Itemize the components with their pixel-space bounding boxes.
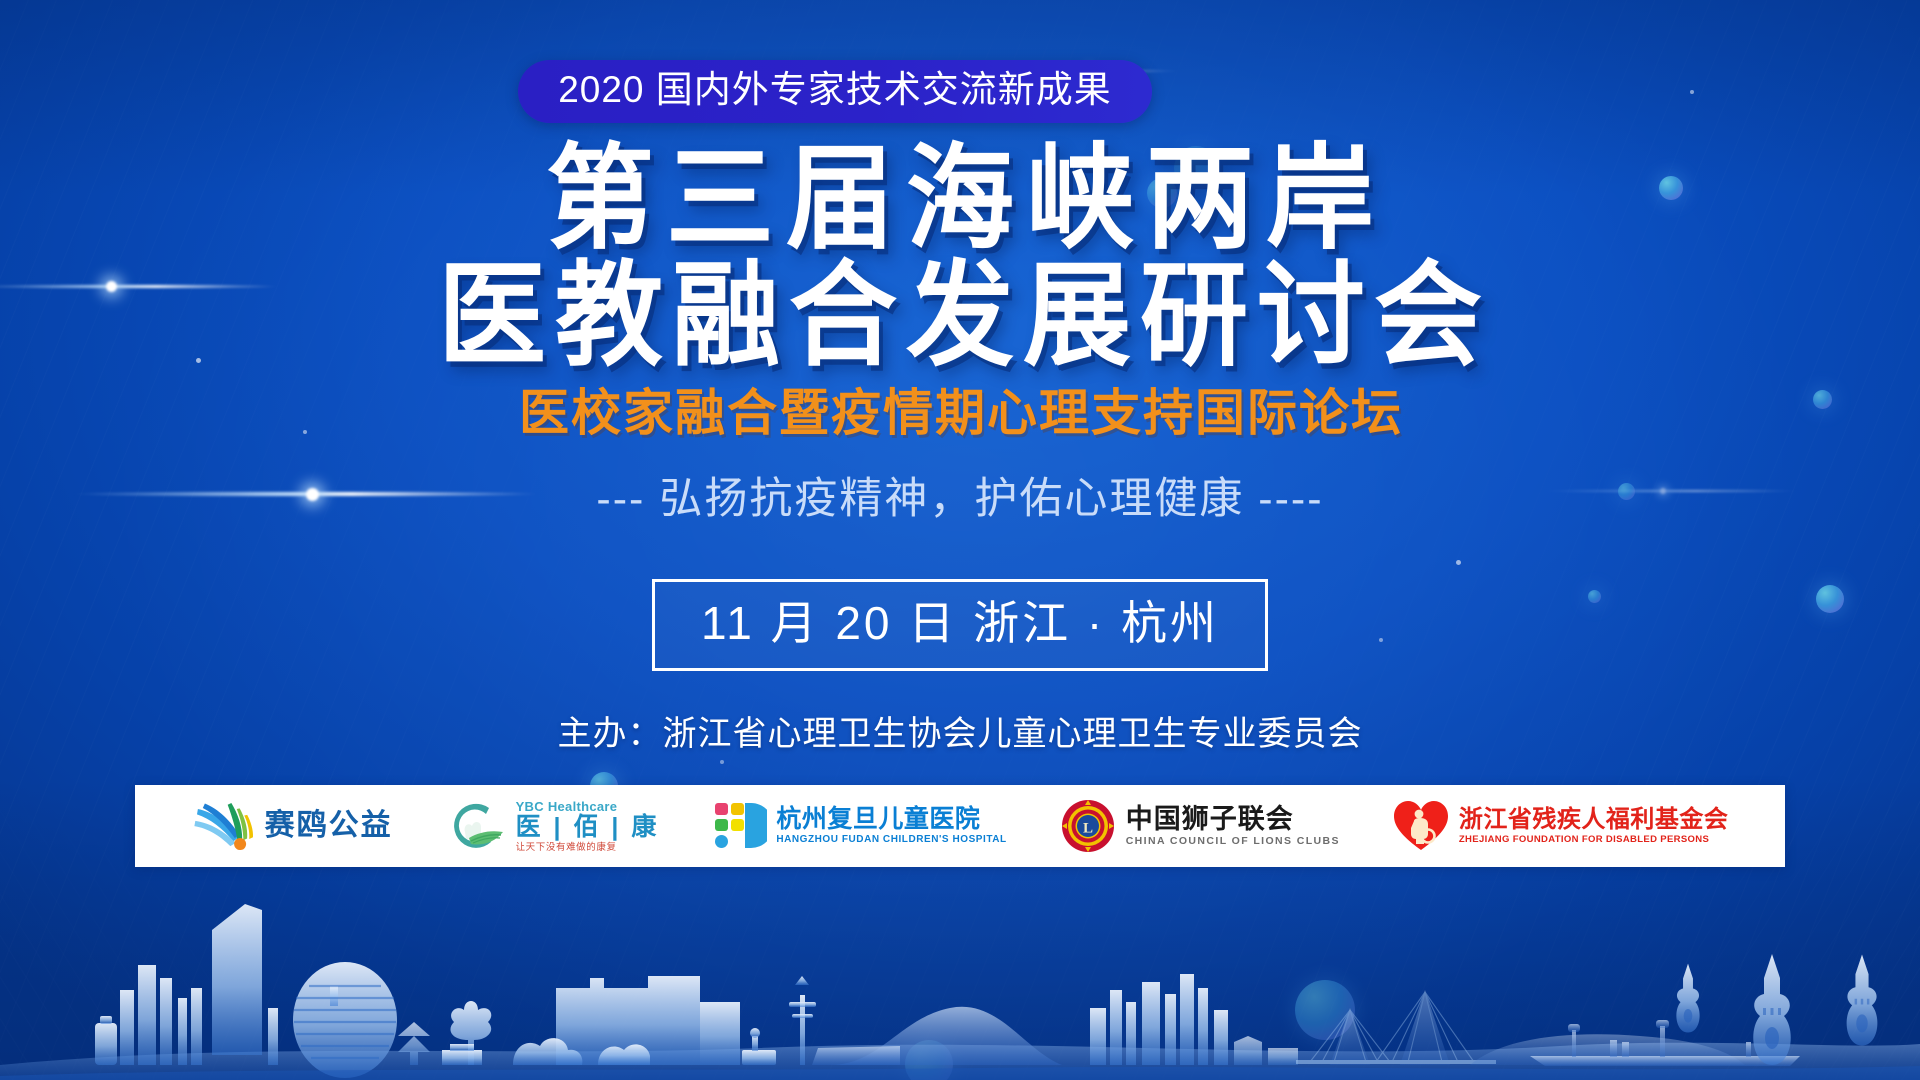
logo-name-en: CHINA COUNCIL OF LIONS CLUBS	[1126, 836, 1340, 847]
hand-leaf-circle-icon	[445, 798, 507, 854]
logo-china-council-of-lions-clubs: L 中国狮子联会 CHINA COUNCIL OF LIONS CLUBS	[1033, 795, 1366, 857]
subtitle-orange: 医校家融合暨疫情期心理支持国际论坛	[517, 388, 1403, 438]
logo-hangzhou-fudan-childrens-hospital: 杭州复旦儿童医院 HANGZHOU FUDAN CHILDREN'S HOSPI…	[685, 795, 1032, 857]
sponsor-logo-strip: 赛鸥公益 YBC Healthcare 医 | 佰 | 康	[135, 785, 1785, 867]
logo-text-zjfdp: 浙江省残疾人福利基金会 ZHEJIANG FOUNDATION FOR DISA…	[1459, 808, 1729, 845]
fd-blocks-icon	[711, 799, 767, 853]
tagline: --- 弘扬抗疫精神，护佑心理健康 ----	[596, 478, 1323, 521]
poster-content: 2020 国内外专家技术交流新成果 第三届海峡两岸 医教融合发展研讨会 医校家融…	[0, 0, 1920, 1080]
logo-name-cn: 浙江省残疾人福利基金会	[1459, 808, 1729, 832]
organizer-line: 主办：浙江省心理卫生协会儿童心理卫生专业委员会	[558, 717, 1363, 751]
logo-name-en: ZHEJIANG FOUNDATION FOR DISABLED PERSONS	[1459, 835, 1729, 845]
logo-name-cn: 赛鸥公益	[265, 811, 393, 841]
event-poster: 2020 国内外专家技术交流新成果 第三届海峡两岸 医教融合发展研讨会 医校家融…	[0, 0, 1920, 1080]
logo-name-cn: 杭州复旦儿童医院	[776, 807, 1006, 832]
logo-text-saiou: 赛鸥公益	[265, 811, 393, 841]
logo-ybc-healthcare: YBC Healthcare 医 | 佰 | 康 让天下没有难做的康复	[419, 795, 686, 857]
logo-slogan-cn: 让天下没有难做的康复	[516, 843, 660, 853]
title-line-2: 医教融合发展研讨会	[429, 254, 1491, 378]
year-badge: 2020 国内外专家技术交流新成果	[518, 60, 1152, 123]
feather-wing-icon	[192, 798, 256, 854]
logo-name-en: HANGZHOU FUDAN CHILDREN'S HOSPITAL	[776, 835, 1006, 845]
logo-text-fudan: 杭州复旦儿童医院 HANGZHOU FUDAN CHILDREN'S HOSPI…	[776, 807, 1006, 845]
svg-text:L: L	[1083, 821, 1093, 837]
logo-name-en-top: YBC Healthcare	[516, 800, 660, 813]
logo-name-cn: 中国狮子联会	[1126, 806, 1340, 833]
lions-club-emblem-icon: L	[1059, 798, 1117, 854]
date-location-box: 11 月 20 日 浙江 · 杭州	[652, 579, 1268, 671]
logo-saiou-gongyi: 赛鸥公益	[166, 795, 419, 857]
title-block: 第三届海峡两岸 医教融合发展研讨会	[429, 141, 1491, 374]
red-heart-figure-icon	[1392, 799, 1450, 853]
logo-text-ybc: YBC Healthcare 医 | 佰 | 康 让天下没有难做的康复	[516, 800, 660, 853]
logo-name-cn: 医 | 佰 | 康	[516, 815, 660, 840]
logo-zhejiang-foundation-for-disabled-persons: 浙江省残疾人福利基金会 ZHEJIANG FOUNDATION FOR DISA…	[1366, 795, 1755, 857]
logo-text-lions: 中国狮子联会 CHINA COUNCIL OF LIONS CLUBS	[1126, 806, 1340, 847]
title-line-1: 第三届海峡两岸	[429, 138, 1491, 262]
